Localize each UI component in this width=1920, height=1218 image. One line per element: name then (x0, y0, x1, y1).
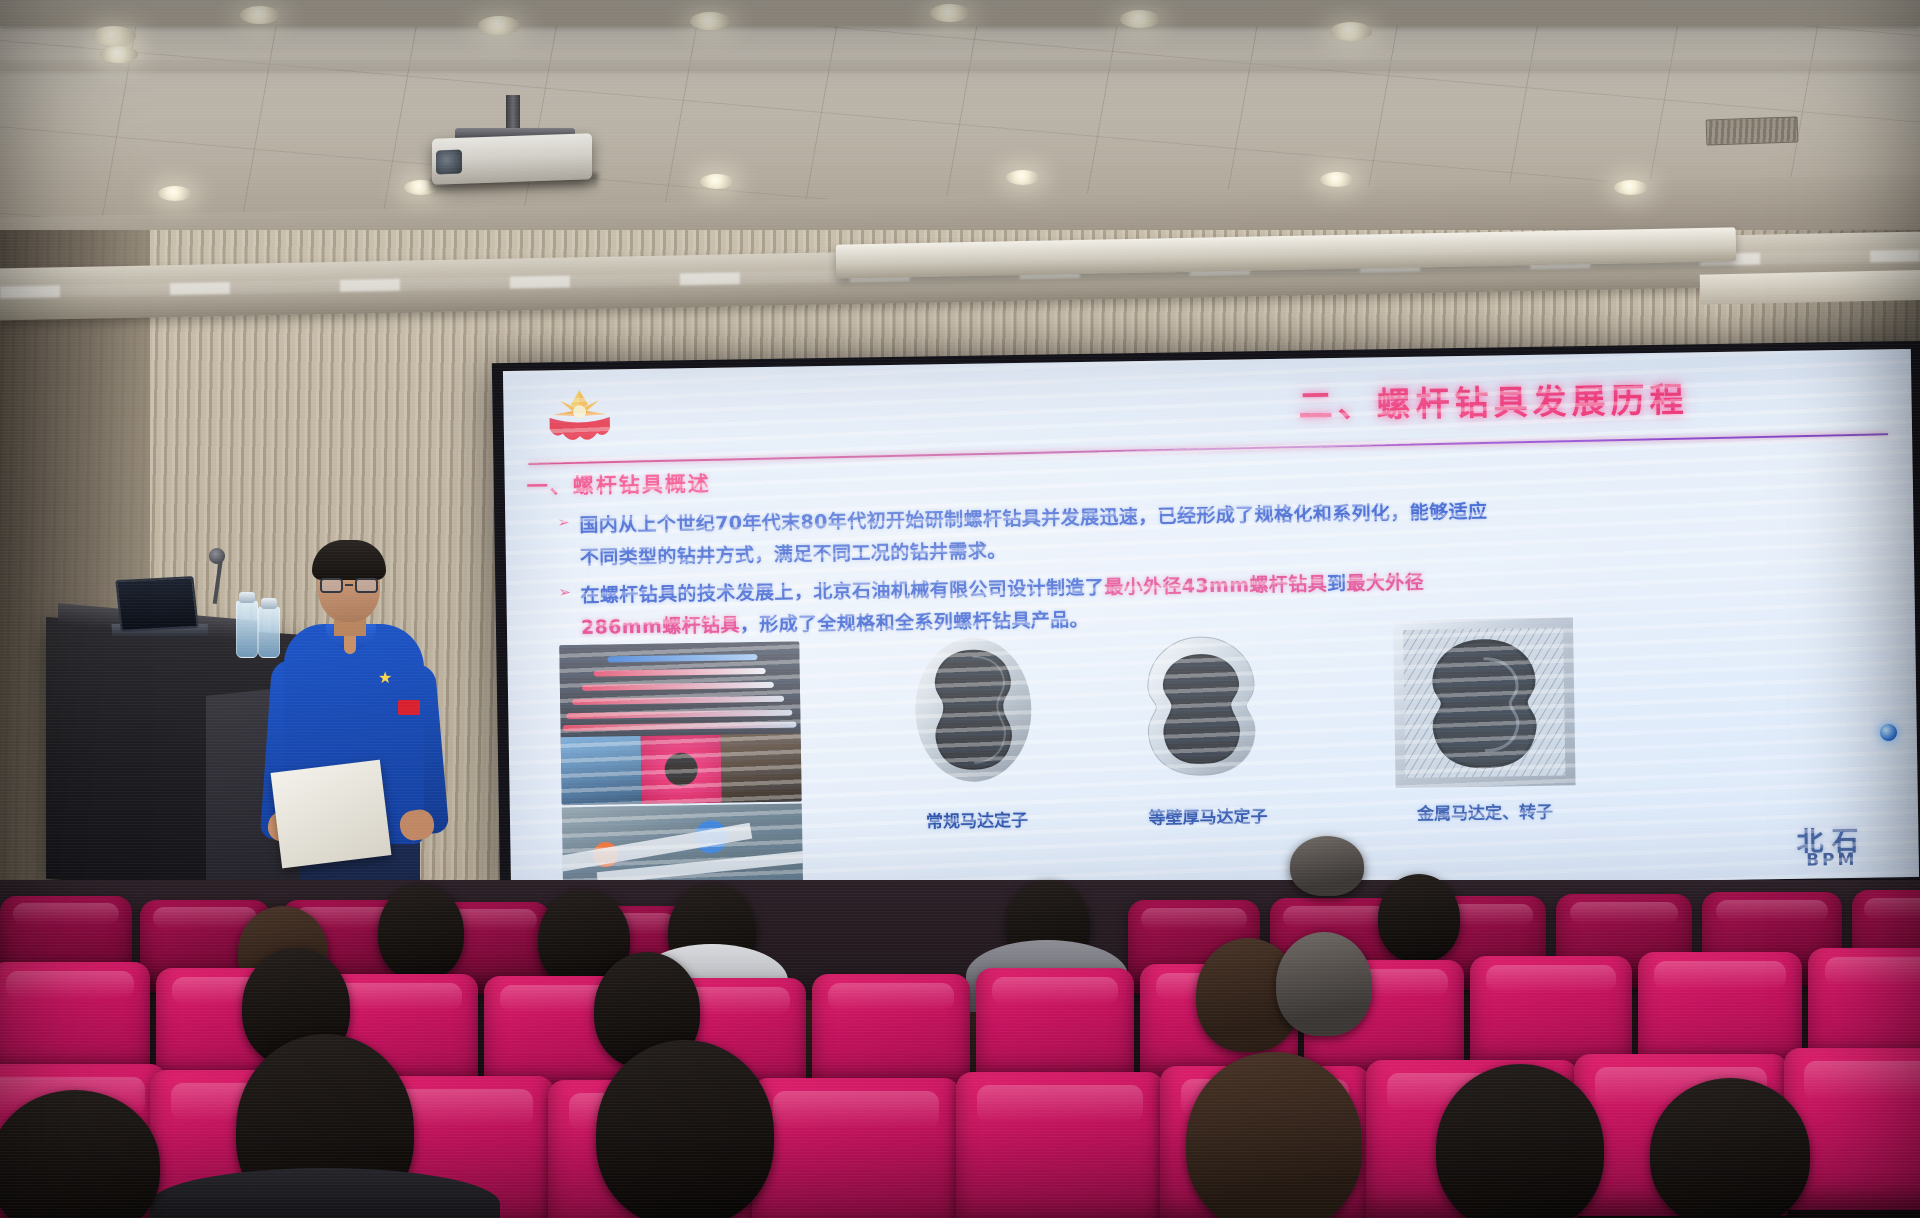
conference-hall-scene: 二、螺杆钻具发展历程 一、螺杆钻具概述 ➢ 国内从上个世纪70年代末80年代初开… (0, 0, 1920, 1218)
ceiling-band-2 (0, 60, 1920, 70)
presentation-slide: 二、螺杆钻具发展历程 一、螺杆钻具概述 ➢ 国内从上个世纪70年代末80年代初开… (503, 349, 1919, 899)
collage-rods-panel (559, 641, 800, 737)
figure-product-collage (559, 641, 801, 805)
downlight-icon (700, 174, 734, 189)
drill-rod (594, 668, 766, 677)
audience-head-foreground (1186, 1052, 1362, 1218)
figure-factory-photo (562, 803, 803, 887)
photo-drill-bit (641, 735, 722, 804)
downlight-icon (1330, 22, 1372, 41)
audience-head-foreground (1436, 1064, 1604, 1218)
presenter-document (271, 760, 392, 869)
air-conditioner-unit (1700, 269, 1920, 304)
audience-head (1276, 932, 1372, 1036)
audience-head (378, 884, 464, 980)
drill-rod (563, 722, 797, 732)
slide-section-heading: 一、螺杆钻具概述 (527, 468, 711, 501)
seat (812, 974, 970, 1090)
water-bottle-cap (239, 592, 255, 603)
bullet-1-text: 国内从上个世纪70年代末80年代初开始研制螺杆钻具并发展迅速，已经形成了规格化和… (557, 490, 1878, 575)
drill-rod (607, 654, 757, 662)
slide-surface: 二、螺杆钻具发展历程 一、螺杆钻具概述 ➢ 国内从上个世纪70年代末80年代初开… (503, 349, 1919, 899)
downlight-icon (478, 16, 520, 35)
downlight-icon (930, 4, 970, 22)
seat (752, 1078, 960, 1218)
downlight-icon (1320, 172, 1354, 187)
projector-lens-icon (436, 150, 462, 175)
laptop-screen (115, 576, 198, 632)
drill-rod (566, 710, 792, 720)
downlight-icon (690, 12, 730, 30)
downlight-icon (1614, 180, 1648, 195)
cnpc-logo (543, 385, 616, 452)
photo-rock-core (721, 733, 802, 802)
drill-rod (572, 696, 784, 705)
caption-conventional-stator: 常规马达定子 (892, 805, 1062, 833)
downlight-icon (240, 6, 280, 24)
seat (1638, 952, 1802, 1070)
figure-metal-motor (1389, 613, 1580, 796)
audience-head-foreground (1650, 1078, 1810, 1218)
microphone-icon (209, 548, 225, 564)
glasses-lens-left (320, 578, 343, 593)
water-bottle (258, 606, 280, 658)
downlight-icon (100, 46, 138, 63)
slide-bullet-list: ➢ 国内从上个世纪70年代末80年代初开始研制螺杆钻具并发展迅速，已经形成了规格… (557, 490, 1879, 651)
drill-rod (582, 682, 774, 691)
figure-even-wall-stator (1137, 630, 1265, 786)
shirt-flag-patch-icon (398, 700, 420, 715)
figure-conventional-stator (909, 634, 1037, 790)
bpm-logo-en: BPM (1769, 849, 1895, 871)
glasses-lens-right (355, 578, 378, 593)
downlight-icon (1120, 10, 1160, 28)
bullet-caret-icon: ➢ (557, 513, 570, 531)
bpm-company-logo: 北石 BPM (1768, 818, 1895, 871)
bullet-item-1: ➢ 国内从上个世纪70年代末80年代初开始研制螺杆钻具并发展迅速，已经形成了规格… (557, 490, 1878, 575)
led-display-screen[interactable]: 二、螺杆钻具发展历程 一、螺杆钻具概述 ➢ 国内从上个世纪70年代末80年代初开… (492, 341, 1920, 908)
seat (956, 1072, 1164, 1218)
slide-title: 二、螺杆钻具发展历程 (1123, 370, 1864, 431)
water-bottle-cap (261, 598, 277, 609)
water-bottle (236, 600, 258, 658)
downlight-icon (92, 26, 136, 46)
screen-status-led-icon (1880, 724, 1897, 741)
seat (976, 968, 1134, 1084)
speaker-glasses-icon (320, 578, 378, 593)
shirt-star-emblem-icon: ★ (378, 670, 394, 686)
audience-head (1290, 836, 1364, 896)
title-divider (528, 433, 1888, 465)
audience-head-foreground (596, 1040, 774, 1218)
ceiling-vent (1706, 116, 1799, 145)
downlight-icon (1006, 170, 1040, 185)
collage-photo-strip (561, 733, 802, 805)
seat (0, 962, 150, 1078)
bullet-caret-icon: ➢ (558, 583, 571, 601)
photo-offshore-rig (561, 736, 642, 805)
caption-metal-motor: 金属马达定、转子 (1370, 797, 1600, 826)
glasses-bridge (345, 584, 353, 586)
audience-head (1378, 874, 1460, 962)
downlight-icon (158, 186, 192, 201)
caption-even-wall-stator: 等壁厚马达定子 (1118, 802, 1298, 830)
